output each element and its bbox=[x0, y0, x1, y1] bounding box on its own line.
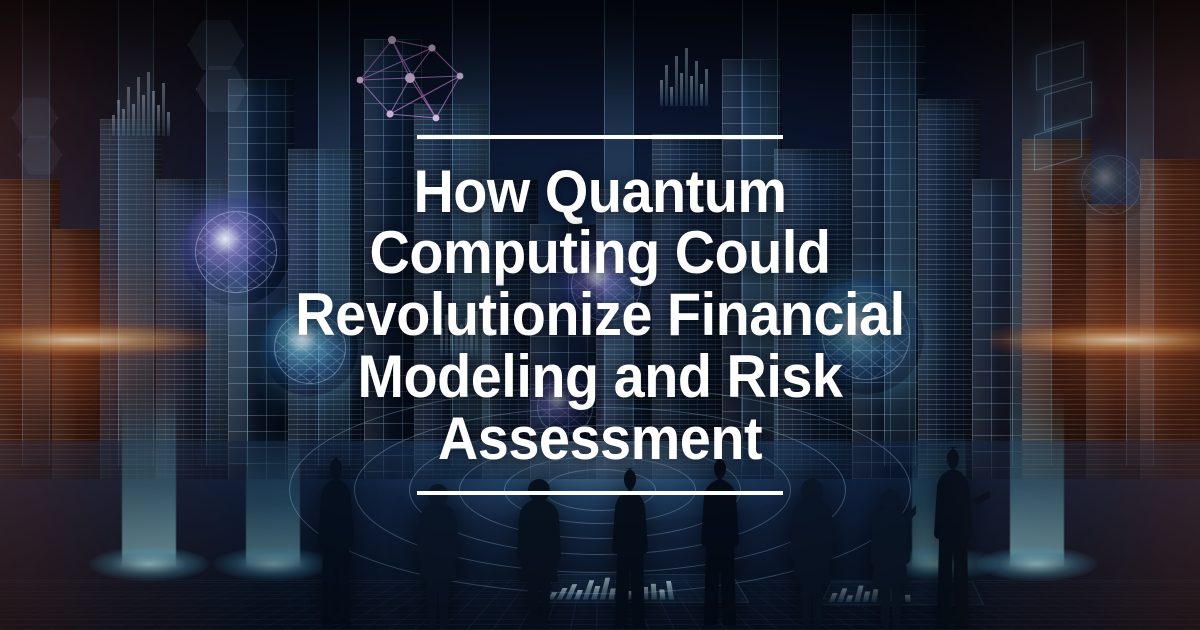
divider-bottom bbox=[417, 491, 783, 495]
article-hero-banner: How Quantum Computing Could Revolutioniz… bbox=[0, 0, 1200, 630]
page-title: How Quantum Computing Could Revolutioniz… bbox=[284, 161, 916, 470]
title-overlay: How Quantum Computing Could Revolutioniz… bbox=[0, 0, 1200, 630]
divider-top bbox=[417, 135, 783, 139]
